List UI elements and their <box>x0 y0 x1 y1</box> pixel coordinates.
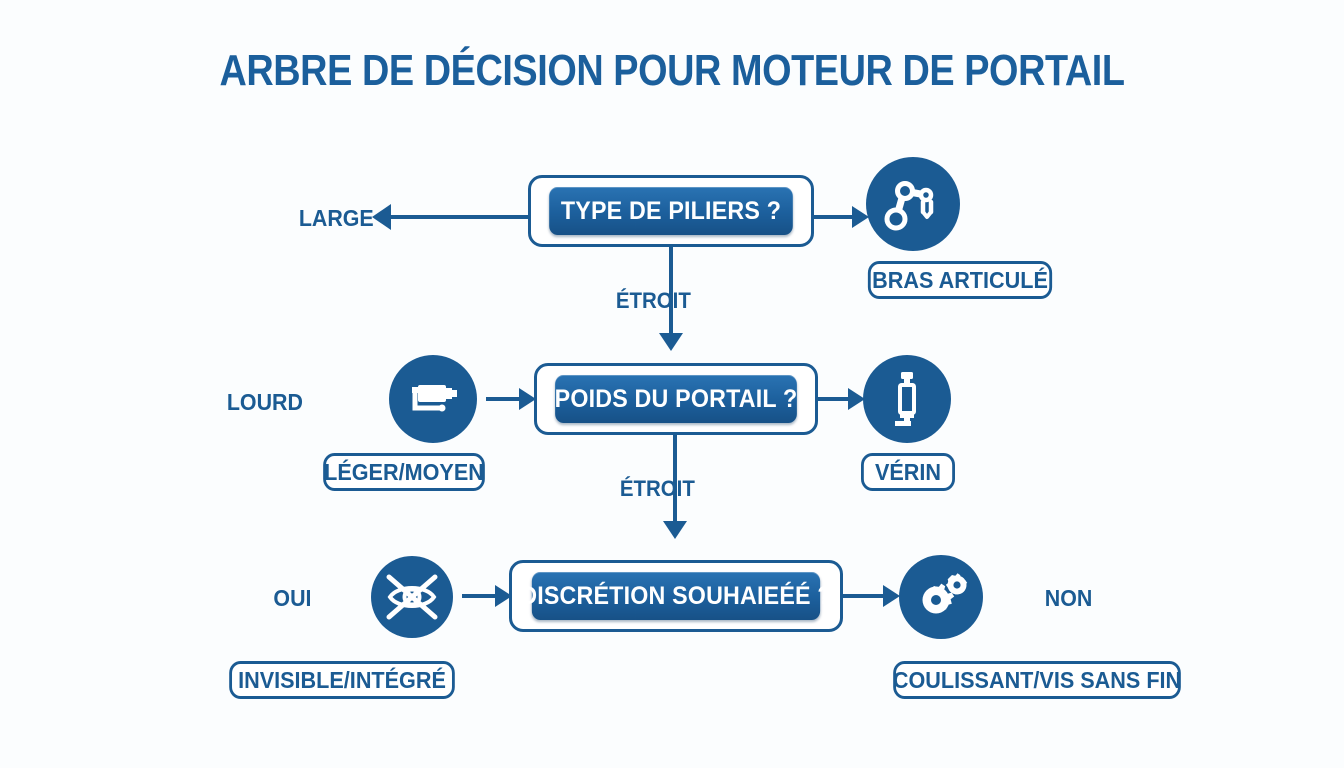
outcome-verin-label: VÉRIN <box>875 459 941 486</box>
outcome-invisible-integre-label: INVISIBLE/INTÉGRÉ <box>238 667 446 694</box>
linear-motor-icon <box>389 355 477 443</box>
outcome-bras-articule-label: BRAS ARTICULÉ <box>872 267 1048 294</box>
outcome-invisible-integre[interactable]: INVISIBLE/INTÉGRÉ <box>229 661 455 699</box>
edge-row3-right-line <box>843 594 885 598</box>
edge-label-row3-left: OUI <box>273 585 311 612</box>
robot-arm-icon <box>866 157 960 251</box>
decision-node-type-de-piliers-label: TYPE DE PILIERS ? <box>549 187 793 235</box>
outcome-coulissant-vis-sans-fin[interactable]: COULISSANT/VIS SANS FIN <box>893 661 1181 699</box>
connector-row1-row2-arrowhead <box>659 333 683 351</box>
decision-node-type-de-piliers[interactable]: TYPE DE PILIERS ? <box>528 175 814 247</box>
decision-node-discretion-souhaitee-label: DISCRÉTION SOUHAIEÉÉ ? <box>532 572 820 620</box>
edge-row1-right-line <box>814 215 854 219</box>
edge-row3-right-arrowhead <box>883 585 900 607</box>
decision-node-poids-du-portail-label: POIDS DU PORTAIL ? <box>555 375 797 423</box>
edge-row3-left-line <box>462 594 498 598</box>
decision-node-discretion-souhaitee[interactable]: DISCRÉTION SOUHAIEÉÉ ? <box>509 560 843 632</box>
outcome-leger-moyen-label: LÉGER/MOYEN <box>324 459 484 486</box>
page-title: ARBRE DE DÉCISION POUR MOTEUR DE PORTAIL <box>94 46 1250 96</box>
edge-row1-left-line <box>388 215 530 219</box>
decision-node-poids-du-portail[interactable]: POIDS DU PORTAIL ? <box>534 363 818 435</box>
edge-row1-left-arrowhead <box>372 204 391 230</box>
hidden-eye-icon <box>371 556 453 638</box>
connector-row2-row3-arrowhead <box>663 521 687 539</box>
decision-tree-canvas: ARBRE DE DÉCISION POUR MOTEUR DE PORTAIL… <box>0 0 1344 768</box>
outcome-leger-moyen[interactable]: LÉGER/MOYEN <box>323 453 485 491</box>
edge-label-row2-left: LOURD <box>227 389 303 416</box>
gears-icon <box>899 555 983 639</box>
edge-label-row1-left: LARGE <box>299 205 374 232</box>
connector-label-row1-etroit: ÉTROIT <box>616 288 691 314</box>
edge-label-row3-right: NON <box>1045 585 1093 612</box>
outcome-coulissant-vis-sans-fin-label: COULISSANT/VIS SANS FIN <box>893 667 1181 694</box>
outcome-verin[interactable]: VÉRIN <box>861 453 955 491</box>
outcome-bras-articule[interactable]: BRAS ARTICULÉ <box>868 261 1052 299</box>
connector-label-row2-etroit: ÉTROIT <box>620 476 695 502</box>
hydraulic-cylinder-icon <box>863 355 951 443</box>
edge-row2-left-line <box>486 397 522 401</box>
edge-row2-right-line <box>818 397 850 401</box>
